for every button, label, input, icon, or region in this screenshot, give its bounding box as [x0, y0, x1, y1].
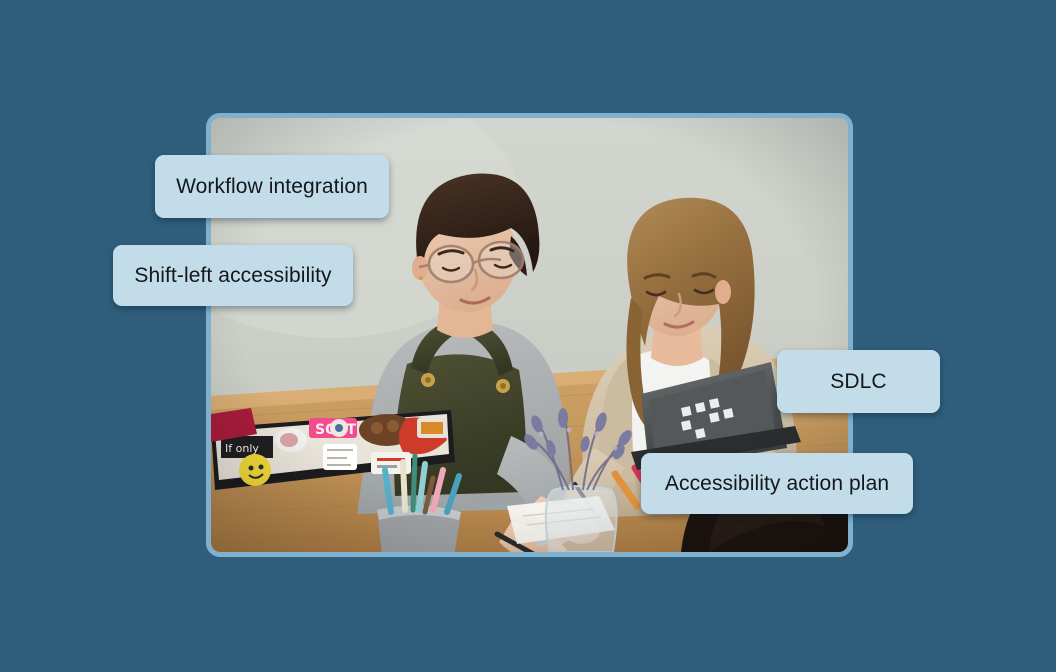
callout-accessibility-action-plan[interactable]: Accessibility action plan [641, 453, 913, 514]
callout-shift-left-accessibility[interactable]: Shift-left accessibility [113, 245, 353, 306]
callout-sdlc[interactable]: SDLC [777, 350, 940, 413]
callout-workflow-integration[interactable]: Workflow integration [155, 155, 389, 218]
slide-canvas: If only SOFT [0, 0, 1056, 672]
